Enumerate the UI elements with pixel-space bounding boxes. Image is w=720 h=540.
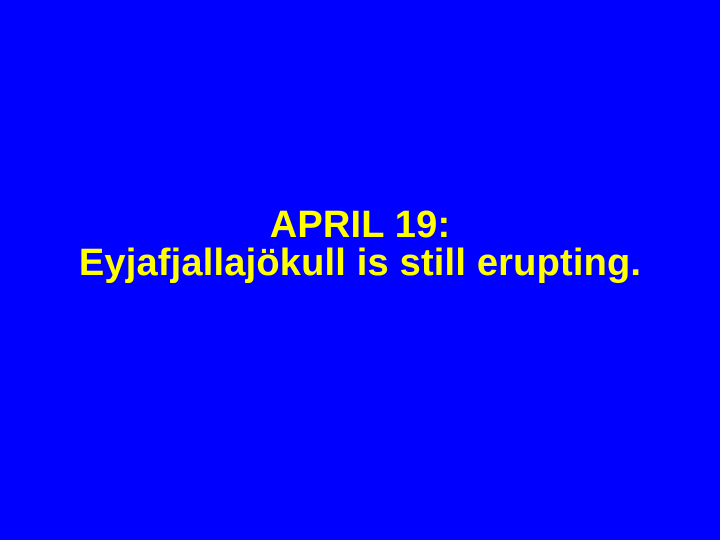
slide-heading-line-2: Eyjafjallajökull is still erupting.: [0, 244, 720, 282]
presentation-slide: APRIL 19: Eyjafjallajökull is still erup…: [0, 0, 720, 540]
slide-heading-line-1: APRIL 19:: [0, 206, 720, 244]
slide-text-block: APRIL 19: Eyjafjallajökull is still erup…: [0, 206, 720, 282]
